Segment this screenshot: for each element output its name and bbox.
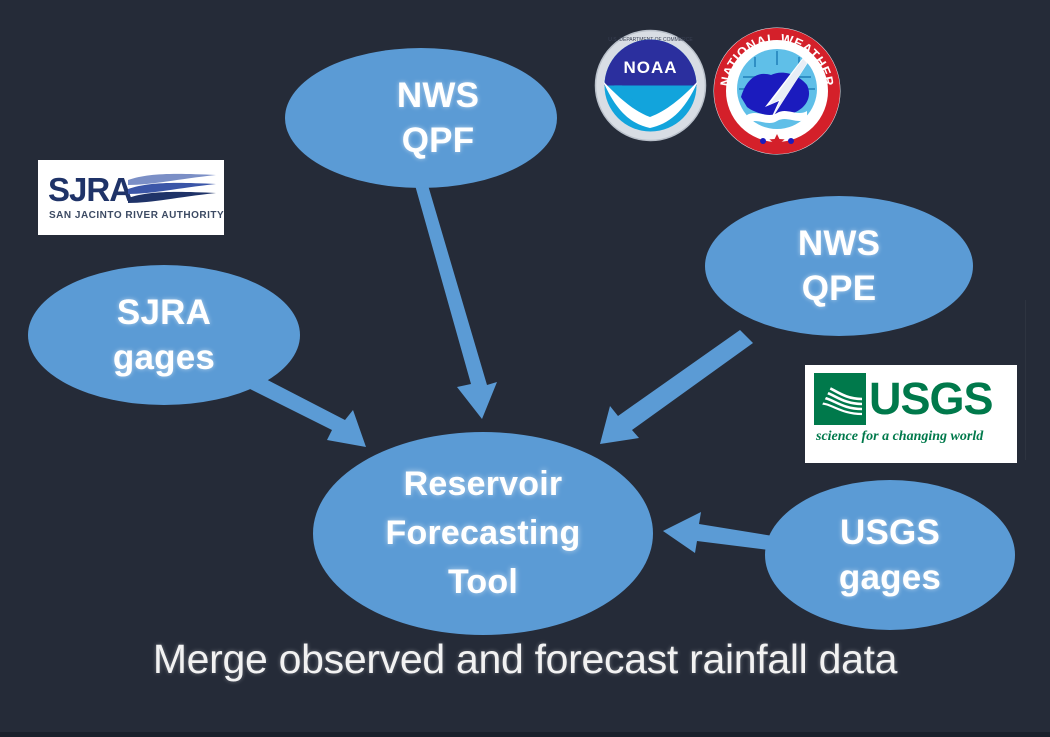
arrow-sjra-gages-to-reservoir: [246, 373, 366, 447]
sjra-subtitle: SAN JACINTO RIVER AUTHORITY: [49, 210, 224, 221]
node-nws-qpf-line2: QPF: [402, 118, 475, 164]
sjra-wordmark: SJRA: [48, 171, 132, 209]
sjra-waves-icon: [126, 172, 218, 206]
node-nws-qpe-line1: NWS: [798, 221, 880, 267]
node-nws-qpe[interactable]: NWS QPE: [705, 196, 973, 336]
usgs-logo: USGS science for a changing world: [805, 365, 1017, 463]
node-usgs-gages[interactable]: USGS gages: [765, 480, 1015, 630]
node-reservoir-line3: Tool: [448, 558, 518, 607]
node-sjra-gages[interactable]: SJRA gages: [28, 265, 300, 405]
node-sjra-gages-line2: gages: [113, 335, 215, 381]
node-nws-qpf[interactable]: NWS QPF: [285, 48, 557, 188]
node-reservoir-line2: Forecasting: [386, 509, 581, 558]
node-reservoir-line1: Reservoir: [404, 460, 563, 509]
node-sjra-gages-line1: SJRA: [117, 290, 211, 336]
node-reservoir-forecasting-tool[interactable]: Reservoir Forecasting Tool: [313, 432, 653, 635]
noaa-wordmark: NOAA: [623, 58, 677, 77]
usgs-tagline: science for a changing world: [816, 429, 1008, 445]
usgs-wordmark: USGS: [869, 378, 993, 421]
arrow-nws-qpe-to-reservoir: [600, 330, 753, 444]
arrow-usgs-gages-to-reservoir: [663, 512, 777, 553]
arrow-nws-qpf-to-reservoir: [413, 175, 497, 419]
noaa-logo: U.S. DEPARTMENT OF COMMERCE NOAA: [594, 29, 707, 142]
node-nws-qpe-line2: QPE: [802, 266, 877, 312]
sjra-logo: SJRA SAN JACINTO RIVER AUTHORITY: [38, 160, 224, 235]
nws-logo: NATIONAL WEATHER SERVICE: [713, 27, 841, 155]
node-usgs-gages-line2: gages: [839, 555, 941, 601]
diagram-caption: Merge observed and forecast rainfall dat…: [0, 636, 1050, 683]
node-nws-qpf-line1: NWS: [397, 73, 479, 119]
slide-edge-line: [1025, 300, 1026, 460]
diagram-slide: NWS QPF NWS QPE SJRA gages USGS gages Re…: [0, 0, 1050, 737]
node-usgs-gages-line1: USGS: [840, 510, 940, 556]
usgs-mark-icon: [814, 373, 866, 425]
